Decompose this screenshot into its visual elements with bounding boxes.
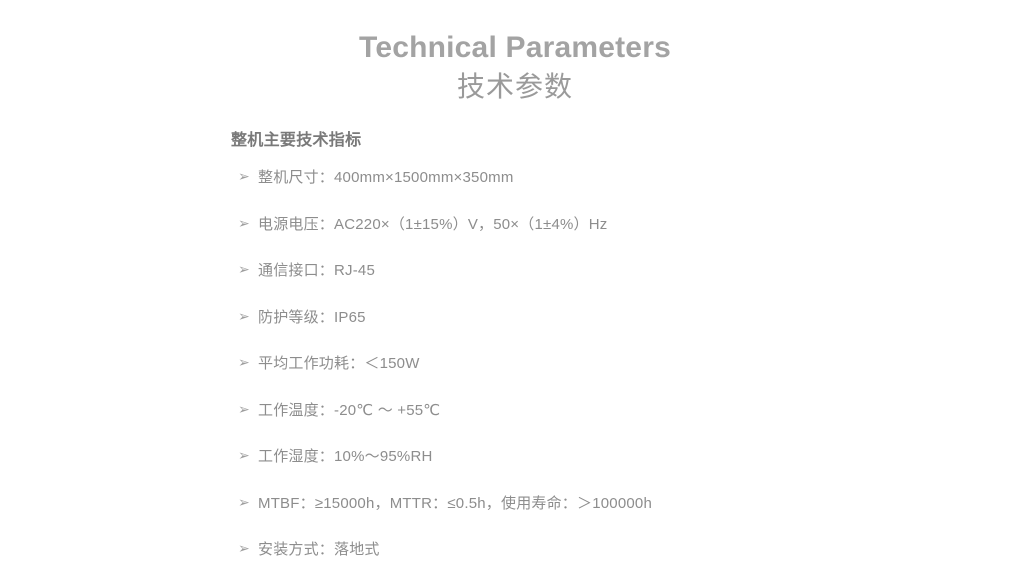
list-item-label: 工作湿度：10%～95%RH (258, 445, 433, 466)
bullet-arrow-icon: ➢ (238, 355, 258, 369)
bullet-arrow-icon: ➢ (238, 448, 258, 462)
list-item-label: 平均工作功耗：＜150W (258, 352, 420, 373)
bullet-arrow-icon: ➢ (238, 309, 258, 323)
slide-page: Technical Parameters 技术参数 整机主要技术指标 ➢整机尺寸… (0, 0, 1030, 572)
list-item: ➢工作温度：-20℃ ～ +55℃ (231, 399, 1010, 446)
list-item-label: 通信接口：RJ-45 (258, 259, 375, 280)
title-block: Technical Parameters 技术参数 (0, 28, 1030, 106)
list-item-label: 工作温度：-20℃ ～ +55℃ (258, 399, 440, 420)
bullet-arrow-icon: ➢ (238, 216, 258, 230)
list-item-label: 防护等级：IP65 (258, 306, 366, 327)
list-item: ➢通信接口：RJ-45 (231, 259, 1010, 306)
list-item: ➢整机尺寸：400mm×1500mm×350mm (231, 166, 1010, 213)
bullet-arrow-icon: ➢ (238, 262, 258, 276)
specifications-section: 整机主要技术指标 ➢整机尺寸：400mm×1500mm×350mm➢电源电压：A… (231, 130, 1010, 585)
list-item: ➢工作湿度：10%～95%RH (231, 445, 1010, 492)
list-item: ➢平均工作功耗：＜150W (231, 352, 1010, 399)
list-item-label: 电源电压：AC220×（1±15%）V，50×（1±4%）Hz (258, 213, 607, 234)
bullet-arrow-icon: ➢ (238, 495, 258, 509)
list-item: ➢MTBF：≥15000h，MTTR：≤0.5h，使用寿命：＞100000h (231, 492, 1010, 539)
page-title-english: Technical Parameters (0, 28, 1030, 68)
list-item-label: 整机尺寸：400mm×1500mm×350mm (258, 166, 514, 187)
list-item: ➢防护等级：IP65 (231, 306, 1010, 353)
list-item: ➢电源电压：AC220×（1±15%）V，50×（1±4%）Hz (231, 213, 1010, 260)
bullet-arrow-icon: ➢ (238, 402, 258, 416)
page-title-chinese: 技术参数 (0, 68, 1030, 106)
bullet-arrow-icon: ➢ (238, 541, 258, 555)
list-item-label: 安装方式：落地式 (258, 538, 380, 559)
section-heading: 整机主要技术指标 (231, 130, 1010, 152)
specification-list: ➢整机尺寸：400mm×1500mm×350mm➢电源电压：AC220×（1±1… (231, 166, 1010, 585)
bullet-arrow-icon: ➢ (238, 169, 258, 183)
list-item: ➢安装方式：落地式 (231, 538, 1010, 585)
list-item-label: MTBF：≥15000h，MTTR：≤0.5h，使用寿命：＞100000h (258, 492, 652, 513)
